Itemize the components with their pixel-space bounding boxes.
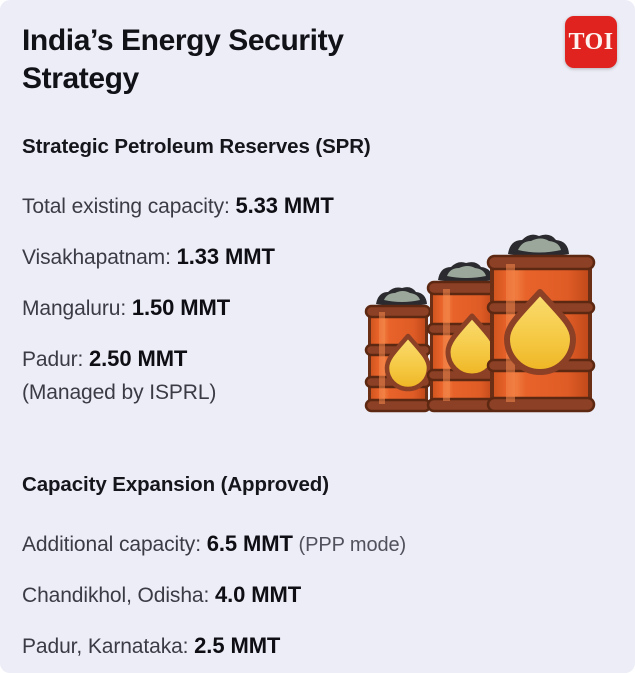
oil-barrels-illustration: [362, 232, 602, 432]
fact-label: Chandikhol, Odisha:: [22, 584, 209, 607]
fact-value: 2.50 MMT: [89, 346, 187, 371]
fact-chandikhol-odisha: Chandikhol, Odisha: 4.0 MMT: [22, 558, 622, 609]
fact-label: Total existing capacity:: [22, 195, 230, 218]
fact-value: 1.33 MMT: [177, 244, 275, 269]
fact-label: Additional capacity:: [22, 533, 201, 556]
section-heading-spr: Strategic Petroleum Reserves (SPR): [22, 134, 622, 161]
fact-padur-karnataka: Padur, Karnataka: 2.5 MMT: [22, 609, 622, 660]
section-heading-expansion: Capacity Expansion (Approved): [22, 472, 622, 499]
fact-value: 4.0 MMT: [215, 582, 301, 607]
fact-note: (PPP mode): [299, 534, 407, 556]
fact-value: 5.33 MMT: [235, 193, 333, 218]
barrel-cap-large: [508, 235, 569, 257]
toi-logo-text: TOI: [568, 30, 613, 54]
barrel-medium: [428, 262, 498, 411]
barrel-cap-small: [376, 287, 427, 306]
barrel-large: [488, 235, 594, 411]
barrel-small: [366, 287, 430, 411]
fact-label: Mangaluru:: [22, 297, 126, 320]
section-capacity-expansion: Capacity Expansion (Approved) Additional…: [22, 472, 622, 660]
header: India’s Energy Security Strategy: [22, 22, 542, 99]
page-title: India’s Energy Security Strategy: [22, 22, 452, 99]
infographic-card: India’s Energy Security Strategy TOI Str…: [0, 0, 635, 673]
barrel-cap-medium: [438, 262, 493, 282]
fact-total-existing-capacity: Total existing capacity: 5.33 MMT: [22, 169, 622, 220]
fact-value: 6.5 MMT: [207, 531, 293, 556]
fact-additional-capacity: Additional capacity: 6.5 MMT (PPP mode): [22, 507, 622, 558]
fact-value: 1.50 MMT: [132, 295, 230, 320]
fact-value: 2.5 MMT: [194, 633, 280, 658]
fact-label: Visakhapatnam:: [22, 246, 171, 269]
fact-label: Padur, Karnataka:: [22, 635, 188, 658]
toi-logo: TOI: [565, 16, 617, 68]
fact-label: Padur:: [22, 348, 83, 371]
